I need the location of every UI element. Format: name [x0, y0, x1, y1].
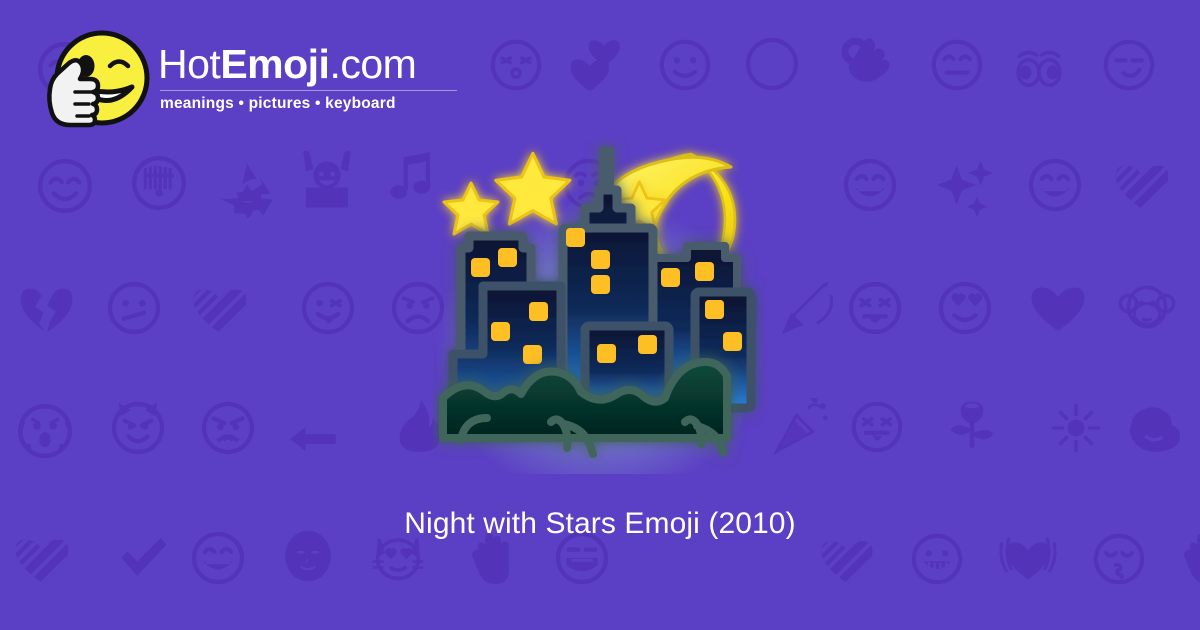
wordmark-part-dotcom: .com — [329, 41, 416, 87]
site-wordmark: HotEmoji.com — [158, 44, 457, 85]
wordmark-part-emoji: Emoji — [220, 41, 329, 87]
eyes-icon — [1010, 40, 1068, 98]
logo-text-block: HotEmoji.com meanings • pictures • keybo… — [158, 28, 457, 113]
slightly-smiling-face-icon — [656, 36, 714, 94]
ok-hand-icon — [838, 32, 896, 90]
winking-face-thumbs-up-icon — [38, 28, 150, 132]
party-popper-icon — [772, 398, 830, 456]
striped-heart-icon — [1112, 156, 1172, 216]
flexed-biceps-icon — [1122, 400, 1180, 458]
grinning-squinting-face-icon — [840, 155, 900, 215]
relieved-face-icon — [34, 155, 96, 217]
broken-heart-icon — [16, 278, 76, 338]
recycle-icon — [218, 160, 276, 218]
site-logo[interactable]: HotEmoji.com meanings • pictures • keybo… — [38, 28, 457, 132]
striped-heart-icon — [190, 280, 250, 340]
wordmark-part-hot: Hot — [158, 41, 220, 87]
smiling-imp-icon — [108, 398, 168, 458]
neutral-face-icon — [928, 36, 986, 94]
weary-face-icon — [742, 34, 802, 94]
sun-icon — [1048, 400, 1104, 456]
smirking-face-icon — [1100, 36, 1158, 94]
purple-heart-icon — [1028, 278, 1088, 338]
rose-icon — [944, 396, 1000, 452]
sparkles-icon — [935, 158, 995, 218]
bow-and-arrow-icon — [780, 278, 838, 336]
confounded-face-icon — [845, 278, 905, 338]
logo-divider — [160, 90, 457, 91]
site-tagline: meanings • pictures • keyboard — [158, 95, 457, 113]
antenna — [603, 150, 610, 184]
emoji-caption: Night with Stars Emoji (2010) — [0, 507, 1200, 541]
person-raising-hands-icon — [296, 148, 358, 210]
screaming-face-icon — [14, 400, 76, 462]
night-with-stars-emoji-image — [433, 140, 767, 474]
star-small-left — [444, 183, 498, 234]
angry-face-icon — [198, 398, 258, 458]
winking-tongue-face-icon — [298, 278, 358, 338]
squinting-tongue-face-icon — [848, 398, 906, 456]
monkey-face-icon — [1118, 278, 1176, 336]
smiling-face-hearts-icon — [935, 278, 995, 338]
grinning-squinting-face-icon — [1025, 155, 1085, 215]
zipper-mouth-face-icon — [128, 152, 190, 214]
left-arrow-icon — [286, 412, 340, 466]
two-hearts-icon — [567, 36, 627, 96]
confused-face-icon — [104, 278, 164, 338]
kissing-face-icon — [487, 36, 545, 94]
